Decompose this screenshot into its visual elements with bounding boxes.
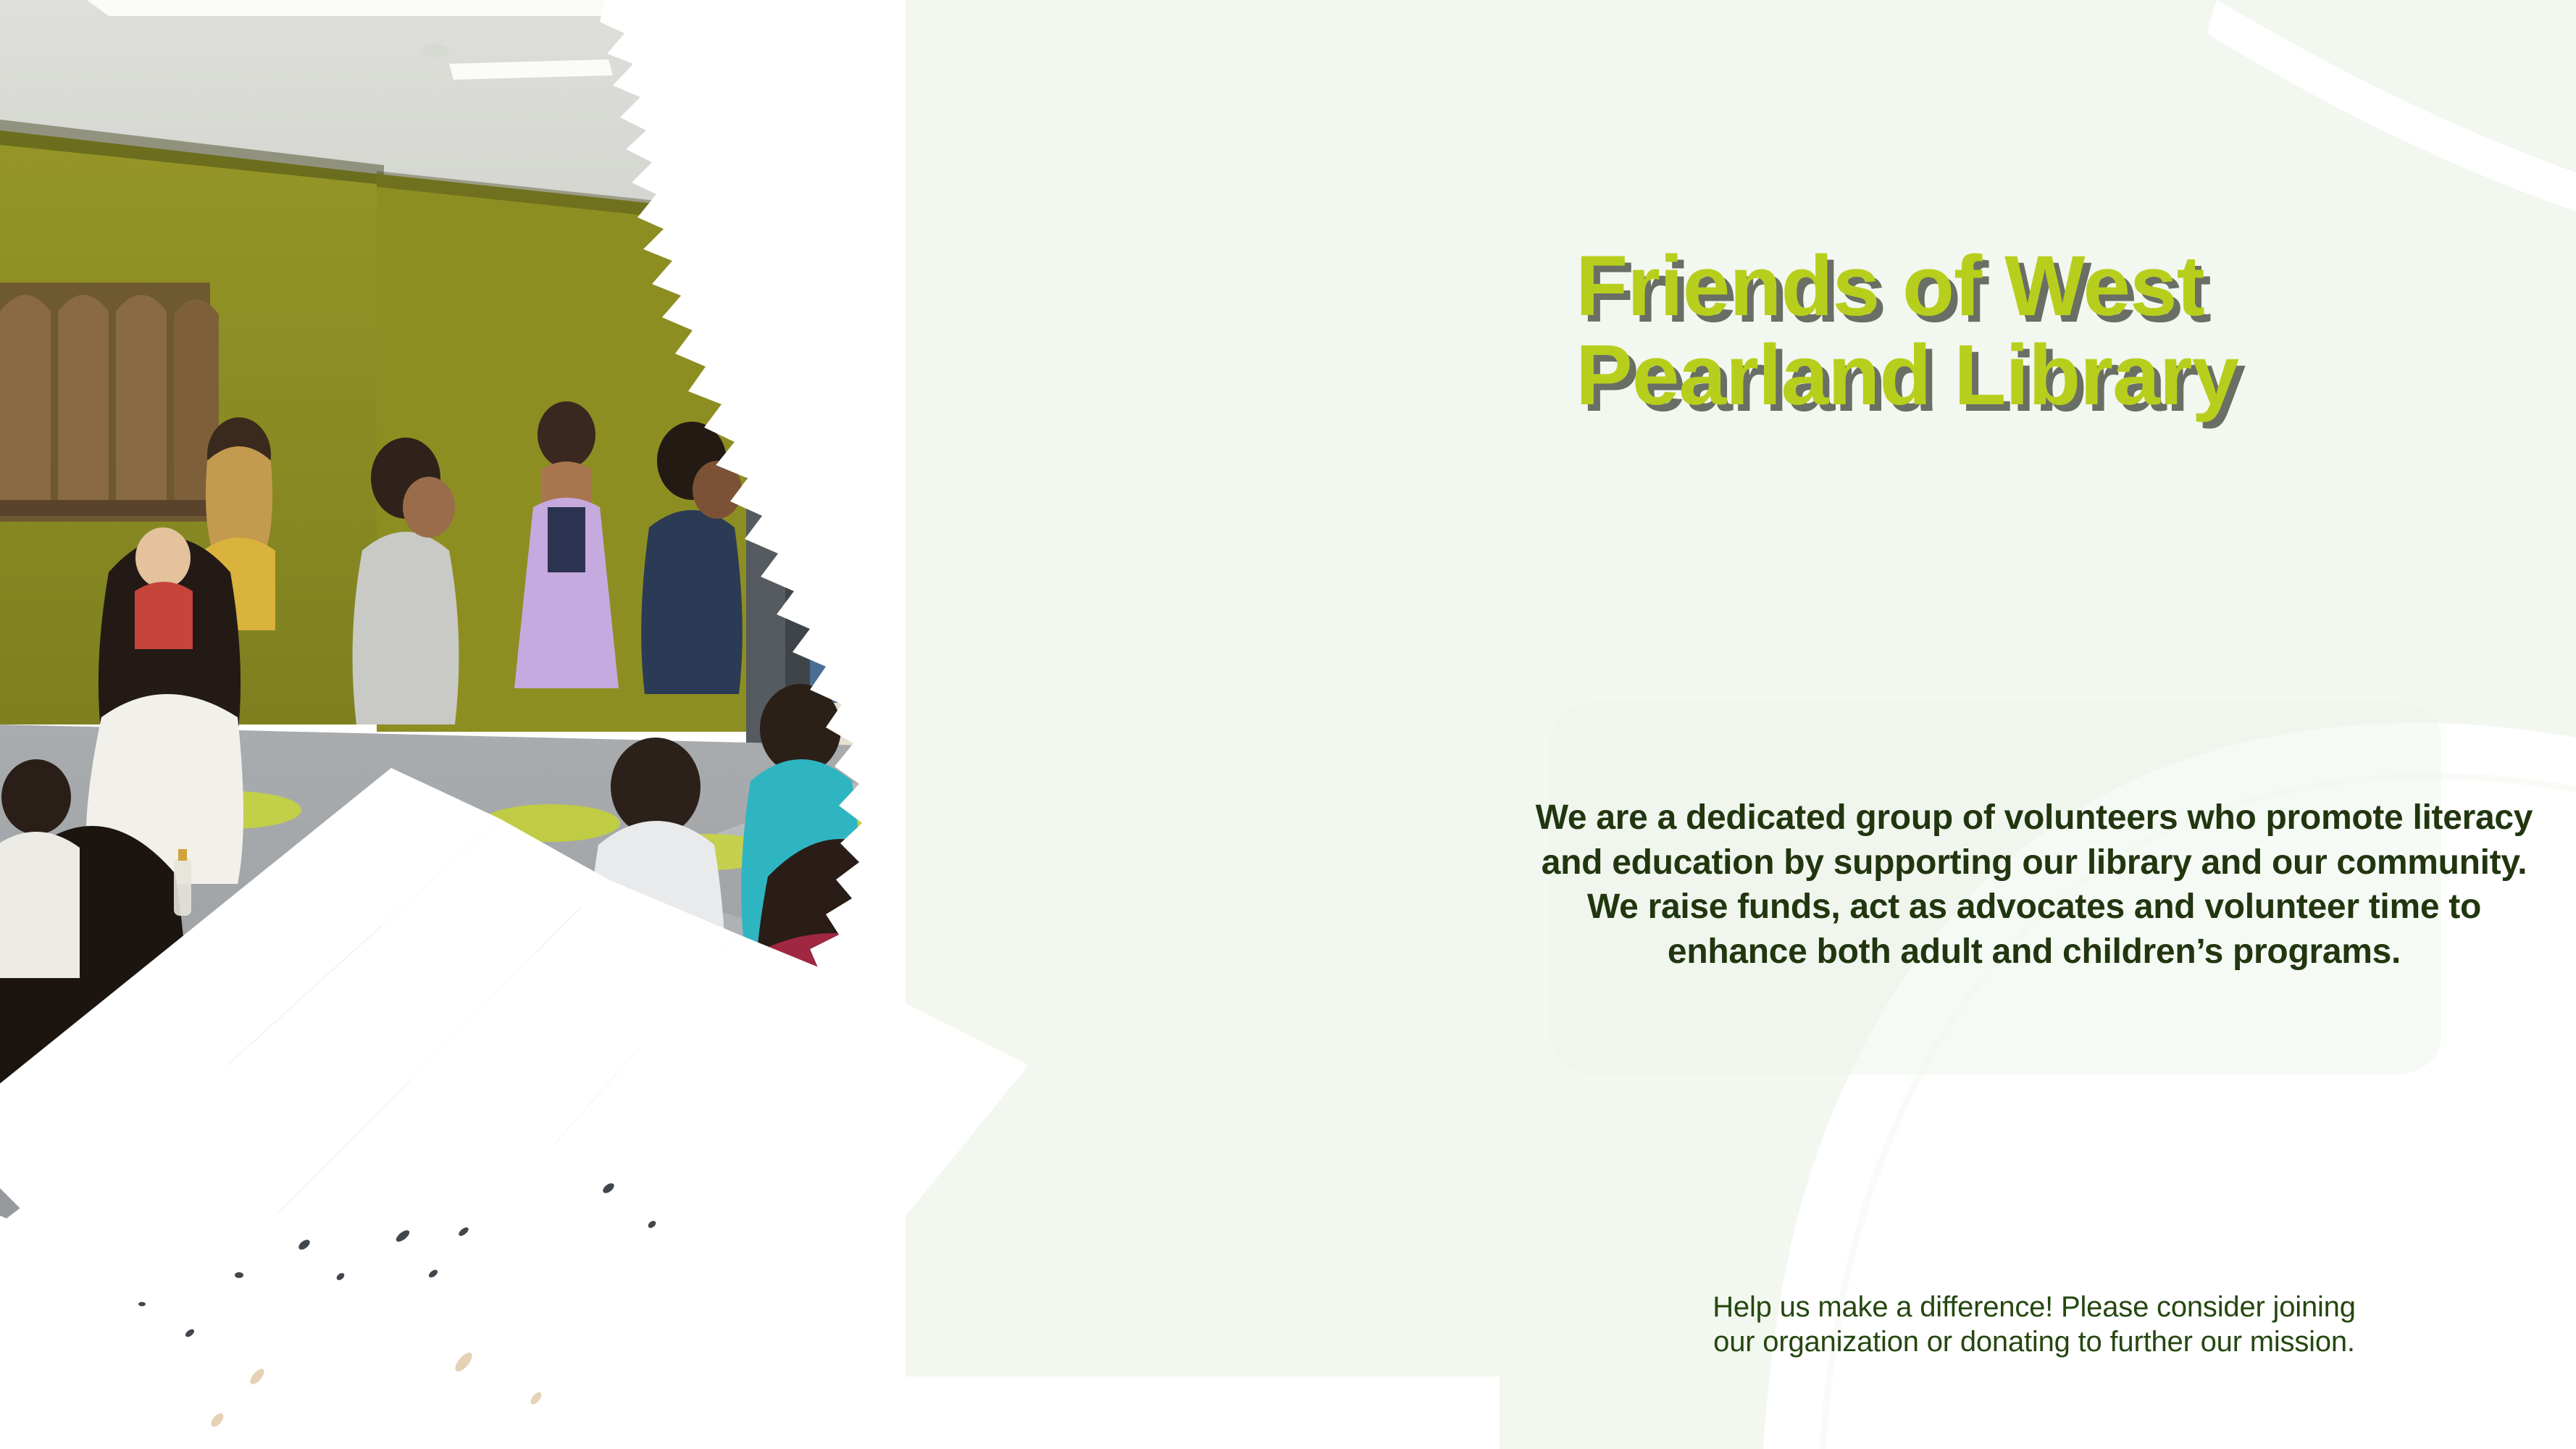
backpack <box>1059 1049 1132 1151</box>
back-wall-top-trim <box>810 312 1500 345</box>
smoke-detector <box>1421 257 1440 276</box>
back-wall <box>810 312 1500 855</box>
window-pane-4 <box>1269 143 1500 304</box>
slide-canvas: Time For a Book! <box>0 0 2576 1449</box>
library-story-time-photo: Time For a Book! <box>0 0 1500 1449</box>
cable-2 <box>1231 606 1275 753</box>
floor-box <box>1174 690 1253 716</box>
ceiling-fixture <box>420 44 449 57</box>
wall-plate <box>1369 507 1401 546</box>
picture-book <box>853 519 934 585</box>
cable <box>1153 606 1192 730</box>
laptop <box>1124 533 1233 606</box>
title-line-1: Friends of West <box>1576 242 2510 331</box>
cloud-shape <box>1046 338 1316 507</box>
skirt <box>919 714 997 891</box>
call-to-action: Help us make a difference! Please consid… <box>1534 1290 2534 1359</box>
door-frame-column <box>746 217 790 753</box>
title-line-2: Pearland Library <box>1576 331 2510 420</box>
cta-line-1: Help us make a difference! Please consid… <box>1534 1290 2534 1324</box>
text-column: Friends of West Pearland Library We are … <box>1492 0 2576 1449</box>
face-mask <box>932 469 969 498</box>
mission-paragraph: We are a dedicated group of volunteers w… <box>1534 796 2534 974</box>
window-mullions <box>782 85 1500 327</box>
door-frame-shadow <box>785 219 810 756</box>
window-pane-2 <box>950 135 1081 296</box>
wood-shelving <box>0 283 219 522</box>
window-pane-1 <box>808 130 921 291</box>
window-pane-3 <box>1110 139 1240 300</box>
screen-text-line1: Time For a <box>1104 386 1255 422</box>
arm <box>863 551 929 594</box>
ceiling-vent <box>1324 160 1400 185</box>
console-table <box>1029 601 1376 761</box>
cta-line-2: our organization or donating to further … <box>1534 1324 2534 1359</box>
clerestory-window <box>782 87 1500 326</box>
wall-plate-slot <box>1378 516 1384 527</box>
librarian-presenter <box>853 410 1001 891</box>
wall-display-screen: Time For a Book! <box>1029 325 1334 522</box>
screen-text-line2: Book! <box>1139 427 1220 462</box>
wall-plate-slot-2 <box>1388 516 1394 527</box>
device-box <box>1246 588 1333 604</box>
blazer <box>888 501 1002 726</box>
book-display <box>1349 555 1387 601</box>
page-title: Friends of West Pearland Library <box>1576 242 2510 419</box>
water-bottle <box>174 849 191 916</box>
blouse <box>939 519 963 627</box>
